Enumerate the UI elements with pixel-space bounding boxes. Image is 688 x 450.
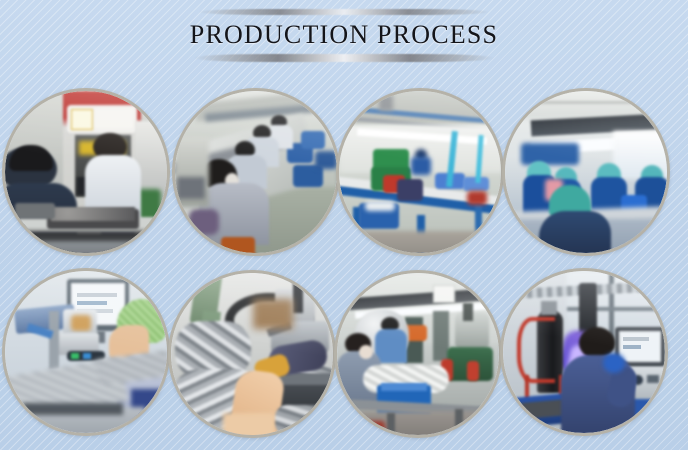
photo-workbench-assembly-area xyxy=(339,91,501,253)
gallery-item-inspection-line[interactable] xyxy=(502,88,670,256)
gallery-item-workbench-area[interactable] xyxy=(336,88,504,256)
photo-welding-test-station xyxy=(503,271,665,433)
gallery-item-metal-parts[interactable] xyxy=(168,270,336,438)
photo-circle xyxy=(336,88,504,256)
photo-circle xyxy=(168,270,336,438)
photo-circle xyxy=(2,88,170,256)
photo-circle xyxy=(502,88,670,256)
photo-assembly-line-workstations xyxy=(175,91,337,253)
gallery-item-stamping-press[interactable] xyxy=(2,88,170,256)
gallery-item-welding-station[interactable] xyxy=(500,268,668,436)
production-process-banner: PRODUCTION PROCESS xyxy=(0,0,688,450)
gallery-item-assembly-line[interactable] xyxy=(172,88,340,256)
gallery-item-machining-workshop[interactable] xyxy=(334,270,502,438)
photo-laser-marking-station xyxy=(5,271,167,433)
gallery-item-laser-marking[interactable] xyxy=(2,268,170,436)
process-gallery xyxy=(0,0,688,450)
photo-circle xyxy=(500,268,668,436)
photo-inspection-packing-line xyxy=(505,91,667,253)
photo-circle xyxy=(334,270,502,438)
photo-machining-workshop xyxy=(337,273,499,435)
photo-circle xyxy=(172,88,340,256)
photo-circle xyxy=(2,268,170,436)
photo-stamping-press-operation xyxy=(5,91,167,253)
photo-metal-parts-deburring xyxy=(171,273,333,435)
